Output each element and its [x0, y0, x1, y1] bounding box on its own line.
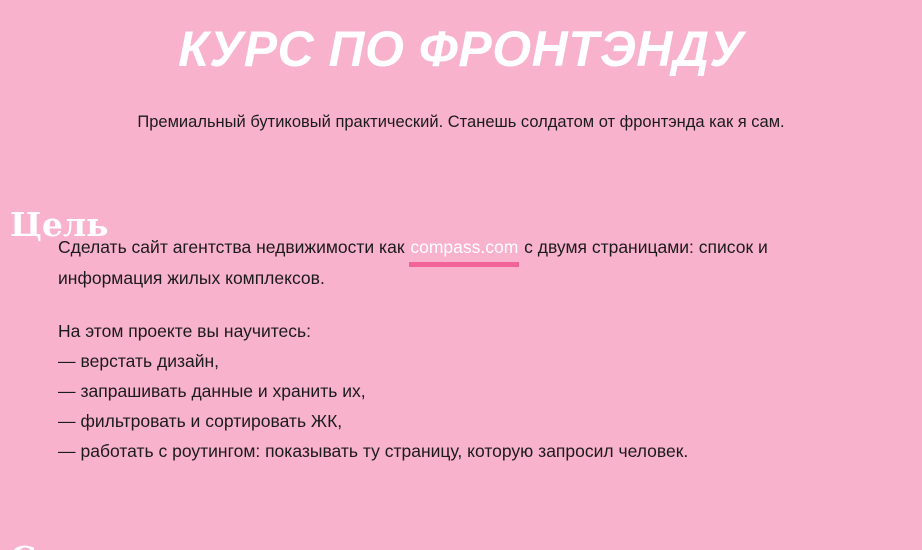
page-title: КУРС ПО ФРОНТЭНДУ: [0, 20, 922, 78]
list-item-label: запрашивать данные и хранить их,: [81, 381, 366, 401]
em-dash-icon: —: [58, 376, 76, 406]
list-item-label: фильтровать и сортировать ЖК,: [81, 411, 343, 431]
page-subtitle: Премиальный бутиковый практический. Стан…: [0, 111, 922, 133]
list-item: —работать с роутингом: показывать ту стр…: [58, 436, 858, 466]
list-item-label: верстать дизайн,: [81, 351, 220, 371]
goal-text-before-link: Сделать сайт агентства недвижимости как: [58, 237, 409, 257]
list-item: —запрашивать данные и хранить их,: [58, 376, 858, 406]
list-item: —верстать дизайн,: [58, 346, 858, 376]
list-item: —фильтровать и сортировать ЖК,: [58, 406, 858, 436]
em-dash-icon: —: [58, 406, 76, 436]
list-item-label: работать с роутингом: показывать ту стра…: [81, 441, 689, 461]
section-heading-next-cutoff: С: [10, 541, 36, 550]
learn-intro: На этом проекте вы научитесь:: [58, 316, 858, 346]
goal-body: Сделать сайт агентства недвижимости как …: [58, 232, 848, 294]
em-dash-icon: —: [58, 346, 76, 376]
learn-list: —верстать дизайн, —запрашивать данные и …: [58, 346, 858, 466]
learn-body: На этом проекте вы научитесь: —верстать …: [58, 316, 858, 466]
compass-link[interactable]: compass.com: [409, 232, 519, 263]
page-root: КУРС ПО ФРОНТЭНДУ Премиальный бутиковый …: [0, 0, 922, 550]
goal-paragraph: Сделать сайт агентства недвижимости как …: [58, 232, 848, 294]
em-dash-icon: —: [58, 436, 76, 466]
